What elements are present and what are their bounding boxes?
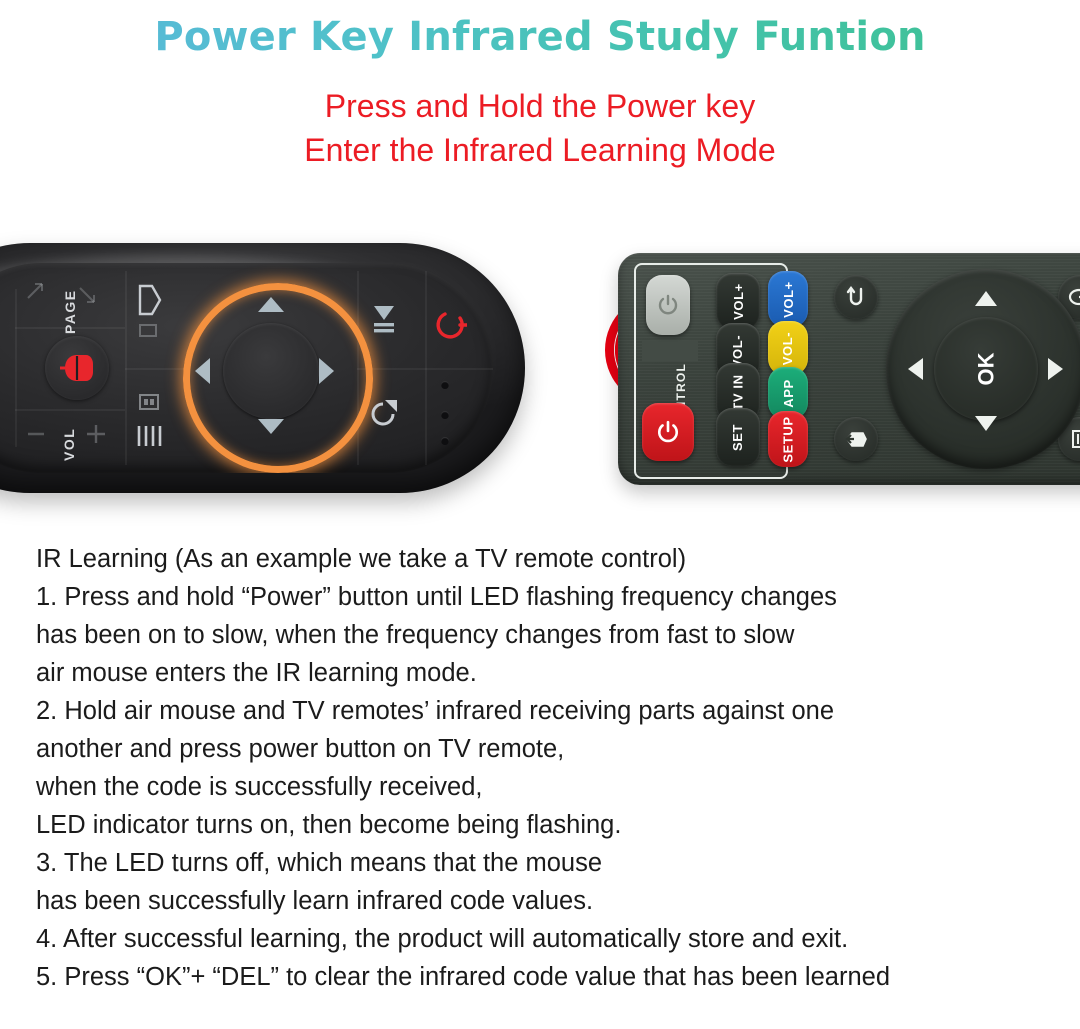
back-button[interactable] <box>834 275 878 319</box>
tv-power-button[interactable] <box>646 275 690 335</box>
app-label: APP <box>781 379 796 408</box>
instruction-line: air mouse enters the IR learning mode. <box>36 654 1046 692</box>
back-d-icon[interactable] <box>135 283 163 322</box>
nav-left-arrow-icon[interactable] <box>908 358 923 380</box>
tv-vol-plus-label: VOL+ <box>731 283 746 320</box>
instruction-line: LED indicator turns on, then become bein… <box>36 806 1046 844</box>
instruction-line: 2. Hold air mouse and TV remotes’ infrar… <box>36 692 1046 730</box>
instruction-line: another and press power button on TV rem… <box>36 730 1046 768</box>
tv-remote-shell: TV CONTROL VOL+ <box>618 253 1080 485</box>
home-button[interactable] <box>834 417 878 461</box>
power-icon <box>657 294 679 316</box>
keypad-divider <box>15 289 17 447</box>
led-dots-icon <box>441 381 449 389</box>
power-button[interactable] <box>642 403 694 461</box>
mouse-mode-rotate-icon[interactable] <box>367 398 401 435</box>
air-mouse-keypad: DEL PAGE <box>0 263 493 473</box>
vol-minus-label: VOL- <box>780 331 795 364</box>
nav-up-arrow-icon[interactable] <box>975 291 997 306</box>
instruction-line: 3. The LED turns off, which means that t… <box>36 844 1046 882</box>
instructions-block: IR Learning (As an example we take a TV … <box>36 540 1046 996</box>
product-info-page: Power Key Infrared Study Funtion Press a… <box>0 0 1080 1029</box>
keyboard-small-icon <box>137 319 159 346</box>
instruction-line: has been successfully learn infrared cod… <box>36 882 1046 920</box>
back-return-icon <box>844 285 868 309</box>
home-icon <box>843 427 869 451</box>
keypad-divider <box>125 368 187 370</box>
instruction-line: when the code is successfully received, <box>36 768 1046 806</box>
vol-button-label[interactable]: VOL <box>61 381 77 461</box>
page-up-arrow-icon <box>25 281 47 308</box>
keypad-divider <box>425 271 427 465</box>
ok-button[interactable]: OK <box>934 317 1038 421</box>
menu-icon <box>1068 427 1080 451</box>
tv-remote-device: TV CONTROL VOL+ <box>618 253 1080 485</box>
nav-down-arrow-icon[interactable] <box>975 416 997 431</box>
outline-gap <box>642 341 698 361</box>
devices-illustration: DEL PAGE <box>0 215 1080 525</box>
dpad-up-arrow-icon[interactable] <box>258 297 284 312</box>
download-keyboard-icon[interactable] <box>369 303 399 342</box>
ok-label: OK <box>973 353 999 386</box>
instructions-heading: IR Learning (As an example we take a TV … <box>36 540 1046 578</box>
instruction-line: 5. Press “OK”+ “DEL” to clear the infrar… <box>36 958 1046 996</box>
dpad-down-arrow-icon[interactable] <box>258 419 284 434</box>
vol-plus-button[interactable]: VOL+ <box>768 271 808 327</box>
tv-in-label: TV IN <box>730 374 745 410</box>
volume-minus-icon <box>23 421 49 452</box>
dpad-center-button[interactable] <box>223 323 319 419</box>
page-down-arrow-icon <box>77 285 99 312</box>
volume-plus-icon <box>83 421 109 452</box>
dpad-right-arrow-icon[interactable] <box>319 358 334 384</box>
tv-vol-plus-button[interactable]: VOL+ <box>716 273 760 329</box>
input-source-icon <box>1067 285 1080 309</box>
instruction-line: 1. Press and hold “Power” button until L… <box>36 578 1046 616</box>
dpad-left-arrow-icon[interactable] <box>195 358 210 384</box>
home-icon[interactable] <box>137 391 161 418</box>
led-dots-icon <box>441 411 449 419</box>
subtitle-line-2: Enter the Infrared Learning Mode <box>0 132 1080 169</box>
vol-plus-label: VOL+ <box>781 281 796 318</box>
setup-button[interactable]: SETUP <box>768 411 808 467</box>
page-button-label[interactable]: PAGE <box>62 263 78 334</box>
page-title: Power Key Infrared Study Funtion <box>0 14 1080 60</box>
subtitle-line-1: Press and Hold the Power key <box>0 88 1080 125</box>
power-icon <box>656 420 680 444</box>
set-button[interactable]: SET <box>716 408 760 466</box>
set-label: SET <box>731 423 746 450</box>
air-mouse-device: DEL PAGE <box>0 243 525 493</box>
led-dots-icon <box>441 437 449 445</box>
menu-lines-icon[interactable] <box>135 423 163 454</box>
power-icon[interactable] <box>433 308 467 347</box>
instruction-line: 4. After successful learning, the produc… <box>36 920 1046 958</box>
setup-label: SETUP <box>781 416 796 462</box>
instruction-line: has been on to slow, when the frequency … <box>36 616 1046 654</box>
nav-right-arrow-icon[interactable] <box>1048 358 1063 380</box>
